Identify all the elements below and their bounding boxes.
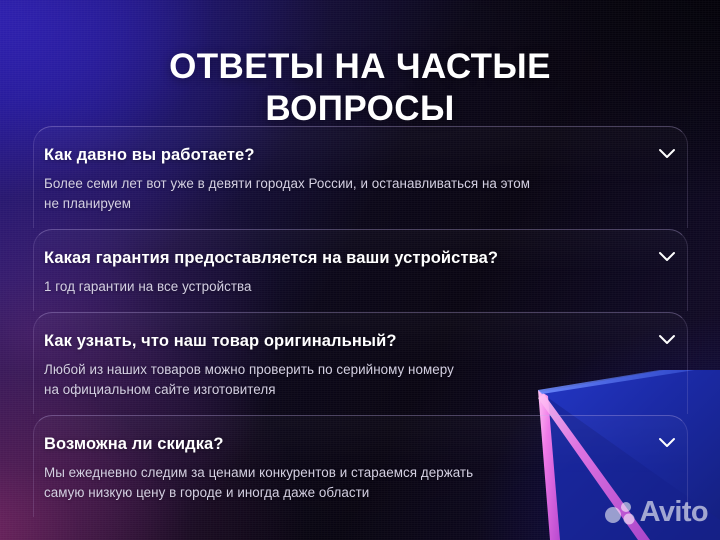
faq-screen: ОТВЕТЫ НА ЧАСТЫЕ ВОПРОСЫ Как давно вы ра… xyxy=(0,0,720,540)
chevron-down-icon[interactable] xyxy=(657,435,677,449)
faq-question: Как узнать, что наш товар оригинальный? xyxy=(44,331,629,352)
faq-item[interactable]: Какая гарантия предоставляется на ваши у… xyxy=(33,229,688,311)
faq-item[interactable]: Возможна ли скидка? Мы ежедневно следим … xyxy=(33,415,688,517)
faq-item[interactable]: Как узнать, что наш товар оригинальный? … xyxy=(33,312,688,414)
faq-answer: 1 год гарантии на все устройства xyxy=(44,277,629,297)
faq-answer: Любой из наших товаров можно проверить п… xyxy=(44,360,629,400)
page-title: ОТВЕТЫ НА ЧАСТЫЕ ВОПРОСЫ xyxy=(0,46,720,130)
faq-item[interactable]: Как давно вы работаете? Более семи лет в… xyxy=(33,126,688,228)
faq-answer: Более семи лет вот уже в девяти городах … xyxy=(44,174,629,214)
chevron-down-icon[interactable] xyxy=(657,249,677,263)
faq-question: Какая гарантия предоставляется на ваши у… xyxy=(44,248,629,269)
chevron-down-icon[interactable] xyxy=(657,146,677,160)
faq-accordion: Как давно вы работаете? Более семи лет в… xyxy=(33,126,688,517)
faq-answer: Мы ежедневно следим за ценами конкуренто… xyxy=(44,463,629,503)
faq-question: Возможна ли скидка? xyxy=(44,434,629,455)
chevron-down-icon[interactable] xyxy=(657,332,677,346)
faq-question: Как давно вы работаете? xyxy=(44,145,629,166)
